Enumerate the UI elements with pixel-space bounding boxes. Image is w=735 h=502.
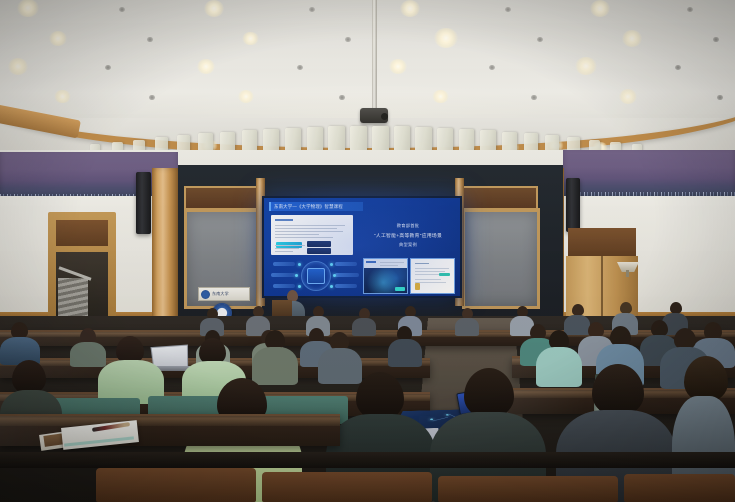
slide-thumbnail-document	[410, 258, 455, 294]
ceiling-light	[17, 0, 39, 17]
slide-caption-line-3: 典型案例	[399, 242, 417, 248]
ceiling-vent-icon	[339, 95, 345, 100]
ceiling-light	[432, 90, 449, 104]
radial-label-5	[335, 273, 359, 277]
radial-node-2	[295, 274, 298, 277]
radial-node-1	[298, 263, 301, 266]
door-left-transom	[56, 220, 108, 246]
ceiling-light	[619, 89, 638, 104]
ceiling-vent-icon	[489, 65, 495, 70]
ceiling-light	[400, 0, 420, 17]
desk-front-edge	[0, 452, 735, 468]
ceiling-light	[434, 28, 458, 48]
slide-doc-box-2	[307, 248, 331, 254]
ceiling-vent-icon	[537, 37, 543, 42]
audience-person	[0, 322, 40, 362]
ceiling-vent-icon	[105, 65, 111, 70]
ceiling-vent-icon	[309, 7, 315, 12]
radial-label-4	[335, 262, 357, 266]
ceiling-vent-icon	[531, 95, 537, 100]
slide-doc-box-1	[307, 241, 331, 247]
radial-core	[307, 268, 325, 284]
university-logo-icon	[201, 290, 210, 299]
radial-node-3	[298, 285, 301, 288]
slide-document-panel	[271, 215, 353, 255]
ceiling-vent-icon	[713, 37, 719, 42]
audience-person	[352, 308, 376, 332]
radial-label-6	[335, 284, 357, 288]
ceiling-light	[242, 32, 259, 46]
radial-node-5	[333, 274, 336, 277]
presentation-slide: 东南大学—《大学物理》智慧课程 教育部首批 "人工智能+高等教育"应用场景 典型…	[264, 198, 460, 296]
audience-person	[200, 308, 224, 332]
lectern-plaque: 东南大学	[198, 287, 250, 301]
valance-right	[563, 150, 735, 196]
wall-sconce-stem	[626, 270, 629, 277]
slide-title: 东南大学—《大学物理》智慧课程	[271, 202, 343, 211]
door-right-split	[601, 256, 603, 322]
ceiling-light	[8, 58, 28, 75]
thumbnail-logo-icon	[415, 283, 420, 290]
slide-thumbnail-network	[363, 258, 408, 294]
lectern-plaque-text: 东南大学	[212, 291, 229, 297]
slide-radial-diagram	[271, 258, 359, 292]
seat-back-front	[96, 468, 256, 502]
ceiling-light	[197, 59, 216, 74]
ceiling-light	[590, 0, 610, 17]
thumbnail-accent	[439, 273, 450, 276]
radial-node-6	[330, 285, 333, 288]
radial-label-1	[273, 262, 295, 266]
audience-person	[388, 326, 422, 364]
acoustic-panel-right	[462, 208, 540, 309]
radial-label-2	[271, 273, 295, 277]
ceiling-vent-icon	[717, 95, 723, 100]
seat-back-front	[624, 474, 735, 502]
ceiling-vent-icon	[345, 37, 351, 42]
ceiling-light	[238, 90, 253, 103]
ceiling-vent-icon	[149, 95, 155, 100]
radial-label-3	[273, 284, 295, 288]
seat-back-front	[262, 472, 432, 502]
pilaster-left	[152, 168, 178, 326]
slide-title-bar: 东南大学—《大学物理》智慧课程	[269, 202, 363, 211]
audience-person	[455, 308, 479, 332]
speaker-right	[566, 178, 580, 232]
ceiling-vent-icon	[505, 7, 511, 12]
slide-caption-block: 教育部首批 "人工智能+高等教育"应用场景 典型案例	[362, 214, 454, 256]
ceiling-light	[575, 57, 597, 75]
ceiling-light	[54, 90, 71, 104]
projector-pole	[372, 0, 377, 112]
slide-caption-line-1: 教育部首批	[397, 223, 419, 229]
slide-caption-line-2: "人工智能+高等教育"应用场景	[374, 232, 442, 239]
ceiling-vent-icon	[687, 7, 693, 12]
thumbnail-badge	[395, 287, 405, 291]
ceiling-light	[204, 0, 224, 17]
ceiling-light	[49, 31, 68, 46]
door-right-transom	[568, 228, 636, 256]
radial-node-4	[330, 263, 333, 266]
lecture-hall-photo: 东南大学—《大学物理》智慧课程 教育部首批 "人工智能+高等教育"应用场景 典型…	[0, 0, 735, 502]
ceiling-light	[389, 59, 408, 74]
ceiling-light	[622, 30, 642, 47]
ceiling-vent-icon	[297, 65, 303, 70]
ceiling-vent-icon	[119, 7, 125, 12]
seat-back-front	[438, 476, 618, 502]
speaker-left	[136, 172, 151, 234]
ceiling-vent-icon	[147, 37, 153, 42]
projection-screen[interactable]: 东南大学—《大学物理》智慧课程 教育部首批 "人工智能+高等教育"应用场景 典型…	[262, 196, 462, 298]
ceiling-vent-icon	[675, 65, 681, 70]
audience-person	[246, 306, 270, 332]
audience-person-green-left	[98, 336, 164, 398]
